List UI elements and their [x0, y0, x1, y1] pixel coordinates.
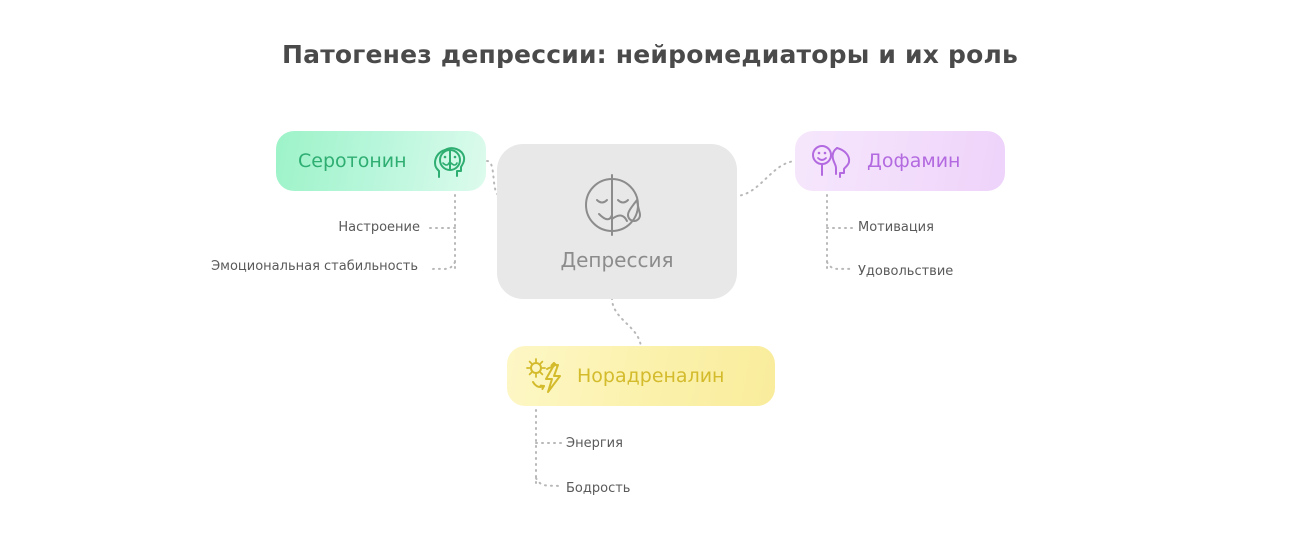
- node-dopamine-label: Дофамин: [867, 150, 960, 172]
- node-serotonin-label: Серотонин: [298, 150, 407, 172]
- sun-lightning-energy-icon: [523, 356, 565, 396]
- node-depression[interactable]: Депрессия: [497, 144, 737, 299]
- node-serotonin[interactable]: Серотонин: [276, 131, 486, 191]
- sublabel-serotonin-1: Настроение: [170, 220, 420, 235]
- sublabel-dopamine-2: Удовольствие: [858, 264, 953, 279]
- sublabel-norepinephrine-1: Энергия: [566, 436, 623, 451]
- connector-norepinephrine-child-2: [536, 478, 559, 486]
- connector-serotonin-child-2: [433, 262, 455, 269]
- half-happy-half-sad-face-icon: [580, 172, 654, 238]
- head-with-smiley-brain-icon: [432, 141, 472, 181]
- node-depression-label: Депрессия: [560, 248, 673, 272]
- sublabel-serotonin-2: Эмоциональная стабильность: [118, 259, 418, 274]
- smiley-head-profile-icon: [809, 141, 855, 181]
- connector-center-to-norepinephrine: [612, 298, 641, 348]
- connector-dopamine-child-2: [827, 262, 850, 269]
- page-title: Патогенез депрессии: нейромедиаторы и их…: [0, 40, 1300, 69]
- diagram-canvas: Патогенез депрессии: нейромедиаторы и их…: [0, 0, 1300, 546]
- node-norepinephrine-label: Норадреналин: [577, 365, 724, 387]
- sublabel-norepinephrine-2: Бодрость: [566, 481, 630, 496]
- connector-center-to-dopamine: [735, 161, 797, 196]
- sublabel-dopamine-1: Мотивация: [858, 220, 934, 235]
- node-norepinephrine[interactable]: Норадреналин: [507, 346, 775, 406]
- node-dopamine[interactable]: Дофамин: [795, 131, 1005, 191]
